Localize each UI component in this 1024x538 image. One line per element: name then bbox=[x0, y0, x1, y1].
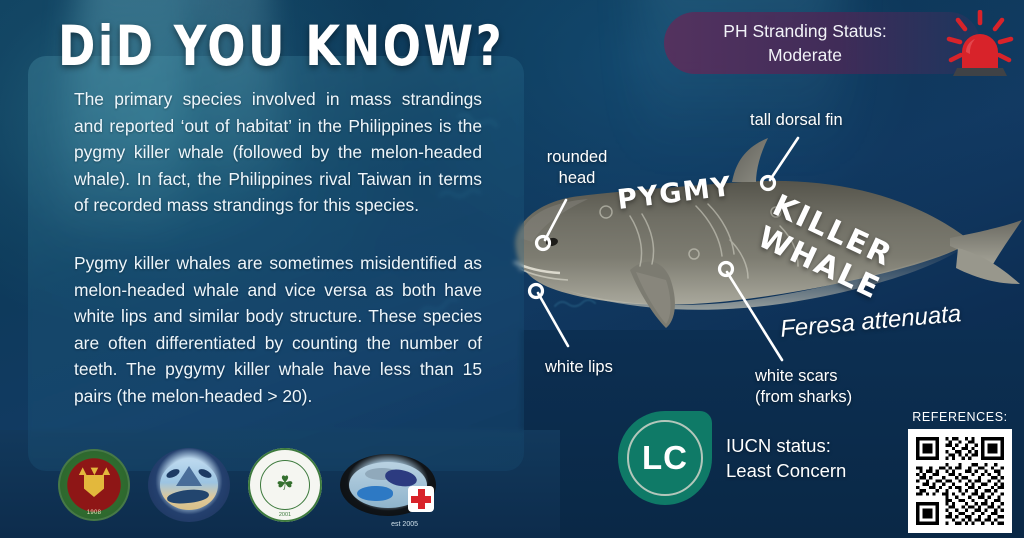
callout-white-scars: white scars (from sharks) bbox=[755, 366, 852, 408]
page-title: DiD YOU KNOW? bbox=[58, 14, 504, 79]
references-block: REFERENCES: bbox=[908, 410, 1012, 538]
medical-cross-icon bbox=[408, 486, 434, 512]
logo-inner bbox=[160, 460, 218, 510]
references-label: REFERENCES: bbox=[908, 410, 1012, 424]
eagle-icon: ▲▼▲ bbox=[76, 463, 112, 478]
fact-text-panel: The primary species involved in mass str… bbox=[28, 56, 524, 471]
status-badge-label: PH Stranding Status: Moderate bbox=[723, 19, 920, 67]
dolphin-icon bbox=[357, 486, 393, 501]
iucn-status-label: IUCN status: Least Concern bbox=[726, 433, 846, 483]
logo-year-ies: 2001 bbox=[279, 512, 291, 518]
logo-institute-environmental-science: ☘ 2001 bbox=[248, 448, 322, 522]
status-badge: PH Stranding Status: Moderate bbox=[664, 12, 980, 74]
logo-year-up: 1908 bbox=[87, 510, 102, 516]
iucn-least-concern-badge: LC bbox=[618, 411, 712, 505]
whale-icon bbox=[166, 488, 209, 505]
callout-tall-dorsal-fin: tall dorsal fin bbox=[750, 110, 843, 131]
fact-paragraph-1: The primary species involved in mass str… bbox=[74, 86, 482, 219]
logo-marine-mammal-research-lab bbox=[148, 448, 230, 522]
logo-philippine-marine-mammal-stranding-network: est 2005 bbox=[340, 454, 436, 516]
iucn-code-label: LC bbox=[642, 439, 688, 477]
callout-white-lips: white lips bbox=[545, 357, 613, 378]
infographic-poster: DiD YOU KNOW? The primary species involv… bbox=[0, 0, 1024, 538]
qr-code[interactable] bbox=[908, 429, 1012, 533]
partner-logos: ▲▼▲ 1908 ☘ 2001 est 2005 bbox=[58, 448, 436, 522]
logo-university-of-the-philippines: ▲▼▲ 1908 bbox=[58, 449, 130, 521]
siren-icon bbox=[944, 10, 1016, 82]
fact-paragraph-2: Pygmy killer whales are sometimes miside… bbox=[74, 250, 482, 410]
shield-icon bbox=[84, 475, 104, 497]
iucn-status-block: LC IUCN status: Least Concern bbox=[618, 411, 846, 505]
logo-established-pmmsn: est 2005 bbox=[391, 521, 418, 528]
plant-icon: ☘ bbox=[276, 474, 294, 494]
callout-rounded-head: rounded head bbox=[530, 147, 624, 189]
